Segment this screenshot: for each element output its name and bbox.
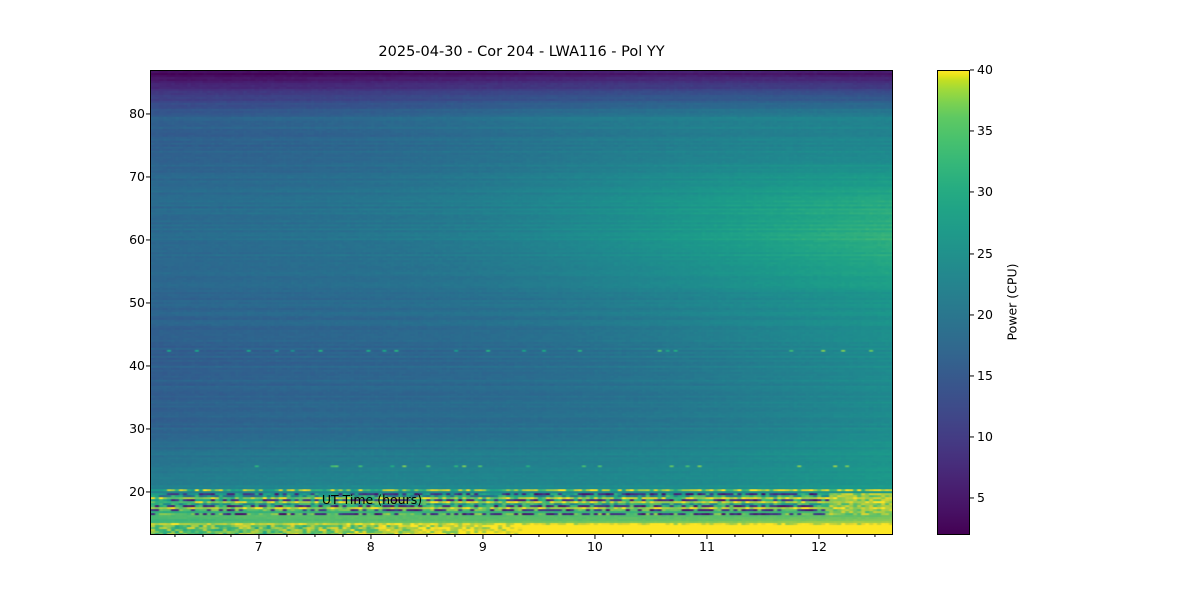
x-tick-mark-7 — [258, 535, 259, 539]
x-minor-tick — [678, 535, 679, 537]
x-minor-tick — [342, 535, 343, 537]
y-tick-mark-40 — [146, 365, 150, 366]
colorbar-tick-mark-35 — [970, 131, 974, 132]
x-tick-label-7: 7 — [239, 541, 279, 554]
spectrogram-axes[interactable] — [150, 70, 893, 535]
y-tick-mark-50 — [146, 302, 150, 303]
x-tick-mark-12 — [818, 535, 819, 539]
y-tick-mark-70 — [146, 176, 150, 177]
colorbar[interactable] — [937, 70, 970, 535]
y-tick-mark-80 — [146, 113, 150, 114]
colorbar-tick-mark-5 — [970, 498, 974, 499]
colorbar-tick-mark-25 — [970, 253, 974, 254]
x-minor-tick — [538, 535, 539, 537]
colorbar-tick-label-25: 25 — [977, 247, 993, 260]
spectrogram-image — [151, 71, 892, 534]
x-tick-label-12: 12 — [799, 541, 839, 554]
y-tick-label-70: 70 — [119, 170, 145, 183]
x-minor-tick — [566, 535, 567, 537]
x-tick-mark-9 — [482, 535, 483, 539]
x-tick-mark-10 — [594, 535, 595, 539]
colorbar-tick-label-5: 5 — [977, 492, 985, 505]
x-tick-mark-11 — [706, 535, 707, 539]
y-tick-mark-60 — [146, 239, 150, 240]
x-minor-tick — [426, 535, 427, 537]
colorbar-tick-mark-40 — [970, 69, 974, 70]
colorbar-tick-label-40: 40 — [977, 64, 993, 77]
x-minor-tick — [174, 535, 175, 537]
x-minor-tick — [286, 535, 287, 537]
y-tick-label-20: 20 — [119, 486, 145, 499]
x-minor-tick — [762, 535, 763, 537]
x-minor-tick — [454, 535, 455, 537]
colorbar-tick-mark-10 — [970, 437, 974, 438]
x-tick-label-8: 8 — [351, 541, 391, 554]
colorbar-tick-label-35: 35 — [977, 125, 993, 138]
colorbar-gradient — [938, 71, 969, 534]
colorbar-tick-label-20: 20 — [977, 308, 993, 321]
x-minor-tick — [875, 535, 876, 537]
x-minor-tick — [398, 535, 399, 537]
x-minor-tick — [734, 535, 735, 537]
colorbar-tick-label-30: 30 — [977, 186, 993, 199]
y-tick-label-30: 30 — [119, 423, 145, 436]
colorbar-tick-mark-15 — [970, 375, 974, 376]
x-tick-label-9: 9 — [463, 541, 503, 554]
y-tick-label-80: 80 — [119, 107, 145, 120]
x-minor-tick — [650, 535, 651, 537]
y-tick-mark-20 — [146, 492, 150, 493]
x-minor-tick — [622, 535, 623, 537]
x-minor-tick — [314, 535, 315, 537]
y-tick-label-60: 60 — [119, 233, 145, 246]
y-tick-label-50: 50 — [119, 297, 145, 310]
colorbar-tick-label-15: 15 — [977, 370, 993, 383]
x-minor-tick — [230, 535, 231, 537]
y-tick-mark-30 — [146, 428, 150, 429]
x-tick-mark-8 — [370, 535, 371, 539]
figure-canvas: 2025-04-30 - Cor 204 - LWA116 - Pol YY F… — [0, 0, 1200, 600]
x-axis-label: UT Time (hours) — [322, 492, 422, 507]
colorbar-label: Power (CPU) — [1005, 264, 1020, 341]
colorbar-tick-mark-30 — [970, 192, 974, 193]
x-minor-tick — [202, 535, 203, 537]
x-tick-label-11: 11 — [687, 541, 727, 554]
x-minor-tick — [847, 535, 848, 537]
x-tick-label-10: 10 — [575, 541, 615, 554]
x-minor-tick — [510, 535, 511, 537]
page-title: 2025-04-30 - Cor 204 - LWA116 - Pol YY — [150, 44, 893, 60]
y-tick-label-40: 40 — [119, 360, 145, 373]
colorbar-tick-label-10: 10 — [977, 431, 993, 444]
x-minor-tick — [790, 535, 791, 537]
colorbar-tick-mark-20 — [970, 314, 974, 315]
